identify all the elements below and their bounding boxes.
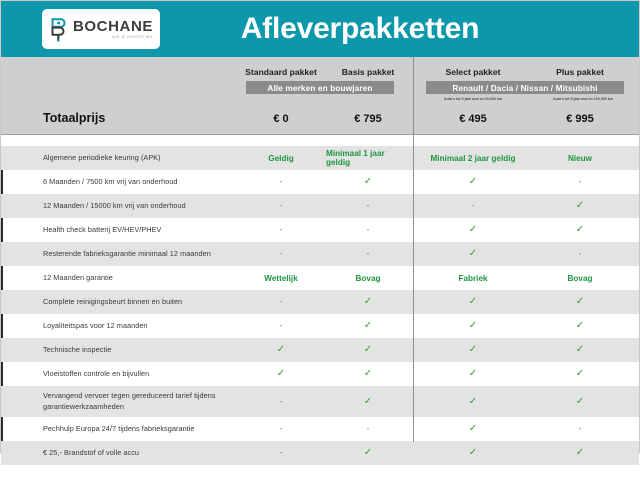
dash-icon: - <box>367 202 370 210</box>
row-cell: ✓ <box>535 314 625 338</box>
row-cell: ✓ <box>326 338 410 362</box>
check-icon: ✓ <box>469 397 477 407</box>
table-row: Vloeistoffen controle en bijvullen✓✓✓✓ <box>1 362 639 386</box>
badge-alle-merken: Alle merken en bouwjaren <box>246 81 394 94</box>
row-left-marker <box>1 362 3 386</box>
table-row: Loyaliteitspas voor 12 maanden-✓✓✓ <box>1 314 639 338</box>
table-row: € 25,- Brandstof of volle accu-✓✓✓ <box>1 441 639 465</box>
row-cell: ✓ <box>425 218 521 242</box>
band-spacer <box>1 135 639 146</box>
row-cell: Nieuw <box>535 146 625 170</box>
check-icon: ✓ <box>364 369 372 379</box>
row-cell: Wettelijk <box>233 266 329 290</box>
table-row: Algemene periodieke keuring (APK)GeldigM… <box>1 146 639 170</box>
check-icon: ✓ <box>364 297 372 307</box>
row-cell: ✓ <box>535 290 625 314</box>
row-cell: ✓ <box>425 170 521 194</box>
dash-icon: - <box>367 425 370 433</box>
row-cell: Minimaal 1 jaar geldig <box>326 146 410 170</box>
check-icon: ✓ <box>469 177 477 187</box>
row-cell: ✓ <box>326 386 410 417</box>
check-icon: ✓ <box>469 424 477 434</box>
row-cell: ✓ <box>326 441 410 465</box>
row-label: Loyaliteitspas voor 12 maanden <box>43 314 228 338</box>
column-header-basis: Basis pakket <box>326 67 410 77</box>
row-cell: - <box>535 242 625 266</box>
row-cell: - <box>233 242 329 266</box>
check-icon: ✓ <box>576 201 584 211</box>
row-cell: ✓ <box>425 386 521 417</box>
check-icon: ✓ <box>469 297 477 307</box>
row-left-marker <box>1 242 3 266</box>
row-cell: ✓ <box>535 218 625 242</box>
badge-merken-select-plus: Renault / Dacia / Nissan / Mitsubishi <box>426 81 624 94</box>
price-plus: € 995 <box>535 113 625 125</box>
row-cell: - <box>233 290 329 314</box>
table-row: 6 Maanden / 7500 km vrij van onderhoud-✓… <box>1 170 639 194</box>
row-cell: - <box>233 417 329 441</box>
check-icon: ✓ <box>469 321 477 331</box>
dash-icon: - <box>472 202 475 210</box>
page-title: Afleverpakketten <box>1 12 639 46</box>
check-icon: ✓ <box>576 297 584 307</box>
check-icon: ✓ <box>469 448 477 458</box>
row-cell: ✓ <box>535 338 625 362</box>
table-row: 12 Maanden / 15000 km vrij van onderhoud… <box>1 194 639 218</box>
row-label: Pechhulp Europa 24/7 tijdens fabrieksgar… <box>43 417 228 441</box>
check-icon: ✓ <box>576 345 584 355</box>
row-cell: ✓ <box>535 194 625 218</box>
subnote-plus: Auto's tot 5 jaar oud en 100.000 km <box>535 97 631 101</box>
row-cell: ✓ <box>233 362 329 386</box>
price-select: € 495 <box>425 113 521 125</box>
dash-icon: - <box>280 202 283 210</box>
check-icon: ✓ <box>364 397 372 407</box>
row-cell: ✓ <box>425 242 521 266</box>
row-cell: - <box>535 417 625 441</box>
dash-icon: - <box>579 250 582 258</box>
dash-icon: - <box>280 250 283 258</box>
price-standaard: € 0 <box>233 113 329 125</box>
dash-icon: - <box>367 226 370 234</box>
check-icon: ✓ <box>364 321 372 331</box>
table-row: Technische inspectie✓✓✓✓ <box>1 338 639 362</box>
row-label: Vloeistoffen controle en bijvullen <box>43 362 228 386</box>
check-icon: ✓ <box>364 177 372 187</box>
check-icon: ✓ <box>576 369 584 379</box>
row-cell: ✓ <box>425 362 521 386</box>
dash-icon: - <box>579 178 582 186</box>
row-label: € 25,- Brandstof of volle accu <box>43 441 228 465</box>
row-label: 6 Maanden / 7500 km vrij van onderhoud <box>43 170 228 194</box>
row-cell: - <box>233 441 329 465</box>
row-cell: Geldig <box>233 146 329 170</box>
row-cell: - <box>326 242 410 266</box>
row-cell: - <box>425 194 521 218</box>
check-icon: ✓ <box>576 397 584 407</box>
row-cell: - <box>326 218 410 242</box>
row-left-marker <box>1 314 3 338</box>
row-cell: - <box>233 194 329 218</box>
row-cell: ✓ <box>535 386 625 417</box>
totaalprijs-label: Totaalprijs <box>43 111 105 125</box>
table-row: Complete reinigingsbeurt binnen en buite… <box>1 290 639 314</box>
table-row: Vervangend vervoer tegen gereduceerd tar… <box>1 386 639 417</box>
dash-icon: - <box>280 449 283 457</box>
table-row: Pechhulp Europa 24/7 tijdens fabrieksgar… <box>1 417 639 441</box>
row-label: Vervangend vervoer tegen gereduceerd tar… <box>43 386 228 417</box>
check-icon: ✓ <box>469 345 477 355</box>
row-cell: - <box>233 218 329 242</box>
row-label: Resterende fabrieksgarantie minimaal 12 … <box>43 242 228 266</box>
table-row: Health check batterij EV/HEV/PHEV--✓✓ <box>1 218 639 242</box>
row-cell: - <box>233 170 329 194</box>
row-cell: - <box>233 386 329 417</box>
row-cell: Minimaal 2 jaar geldig <box>425 146 521 170</box>
table-footer-pad <box>1 465 639 493</box>
afleverpakketten-page: BOCHANE ALS JE VOORUIT WIL Afleverpakket… <box>0 0 640 453</box>
row-left-marker <box>1 338 3 362</box>
row-cell: - <box>535 170 625 194</box>
row-left-marker <box>1 417 3 441</box>
row-cell: ✓ <box>425 290 521 314</box>
row-cell: - <box>233 314 329 338</box>
check-icon: ✓ <box>364 345 372 355</box>
check-icon: ✓ <box>576 225 584 235</box>
dash-icon: - <box>280 322 283 330</box>
column-header-select: Select pakket <box>425 67 521 77</box>
row-cell: ✓ <box>425 441 521 465</box>
row-cell: ✓ <box>326 314 410 338</box>
dash-icon: - <box>367 250 370 258</box>
dash-icon: - <box>280 178 283 186</box>
row-cell: ✓ <box>326 290 410 314</box>
check-icon: ✓ <box>277 345 285 355</box>
feature-table: Algemene periodieke keuring (APK)GeldigM… <box>1 146 639 465</box>
row-label: Complete reinigingsbeurt binnen en buite… <box>43 290 228 314</box>
check-icon: ✓ <box>469 369 477 379</box>
row-left-marker <box>1 266 3 290</box>
package-group-divider <box>413 57 414 442</box>
row-cell: Bovag <box>535 266 625 290</box>
table-row: 12 Maanden garantieWettelijkBovagFabriek… <box>1 266 639 290</box>
dash-icon: - <box>280 398 283 406</box>
row-label: 12 Maanden / 15000 km vrij van onderhoud <box>43 194 228 218</box>
row-left-marker <box>1 386 3 417</box>
check-icon: ✓ <box>576 321 584 331</box>
column-header-plus: Plus pakket <box>535 67 625 77</box>
row-cell: ✓ <box>425 338 521 362</box>
row-cell: ✓ <box>326 362 410 386</box>
row-label: Technische inspectie <box>43 338 228 362</box>
subnote-select: Auto's tot 3 jaar oud en 20.000 km <box>425 97 521 101</box>
row-cell: ✓ <box>535 362 625 386</box>
row-cell: ✓ <box>535 441 625 465</box>
row-cell: ✓ <box>425 417 521 441</box>
row-cell: ✓ <box>326 170 410 194</box>
row-left-marker <box>1 194 3 218</box>
row-left-marker <box>1 170 3 194</box>
row-cell: - <box>326 417 410 441</box>
table-row: Resterende fabrieksgarantie minimaal 12 … <box>1 242 639 266</box>
dash-icon: - <box>280 425 283 433</box>
row-label: 12 Maanden garantie <box>43 266 228 290</box>
check-icon: ✓ <box>469 225 477 235</box>
row-cell: - <box>326 194 410 218</box>
price-basis: € 795 <box>326 113 410 125</box>
price-row: Totaalprijs € 0 € 795 € 495 € 995 <box>1 106 639 135</box>
row-left-marker <box>1 441 3 465</box>
dash-icon: - <box>280 298 283 306</box>
row-label: Algemene periodieke keuring (APK) <box>43 146 228 170</box>
check-icon: ✓ <box>576 448 584 458</box>
page-header: BOCHANE ALS JE VOORUIT WIL Afleverpakket… <box>1 1 639 57</box>
row-cell: ✓ <box>233 338 329 362</box>
column-header-standaard: Standaard pakket <box>233 67 329 77</box>
dash-icon: - <box>579 425 582 433</box>
check-icon: ✓ <box>277 369 285 379</box>
check-icon: ✓ <box>469 249 477 259</box>
row-left-marker <box>1 146 3 170</box>
row-cell: Fabriek <box>425 266 521 290</box>
row-left-marker <box>1 290 3 314</box>
dash-icon: - <box>280 226 283 234</box>
column-header-band: Standaard pakket Basis pakket Select pak… <box>1 57 639 106</box>
row-cell: Bovag <box>326 266 410 290</box>
row-cell: ✓ <box>425 314 521 338</box>
check-icon: ✓ <box>364 448 372 458</box>
row-left-marker <box>1 218 3 242</box>
row-label: Health check batterij EV/HEV/PHEV <box>43 218 228 242</box>
